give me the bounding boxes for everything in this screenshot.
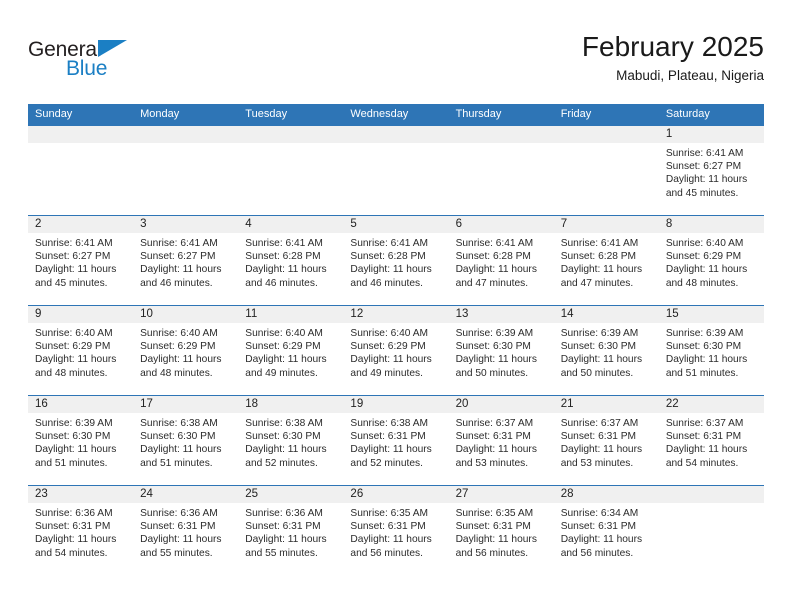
day-number: 20 <box>449 396 554 413</box>
day-number: 21 <box>554 396 659 413</box>
day-number: 12 <box>343 306 448 323</box>
weekday-header-monday: Monday <box>133 104 238 125</box>
daylight-text-line1: Daylight: 11 hours <box>456 533 548 546</box>
day-number: 25 <box>238 486 343 503</box>
day-number: 22 <box>659 396 764 413</box>
day-cell[interactable]: Sunrise: 6:40 AM Sunset: 6:29 PM Dayligh… <box>659 233 764 305</box>
day-number: 28 <box>554 486 659 503</box>
day-number: 7 <box>554 216 659 233</box>
sunset-text: Sunset: 6:27 PM <box>666 160 758 173</box>
daylight-text-line2: and 56 minutes. <box>456 547 548 560</box>
daylight-text-line2: and 51 minutes. <box>140 457 232 470</box>
sunset-text: Sunset: 6:28 PM <box>456 250 548 263</box>
day-cell[interactable]: Sunrise: 6:39 AM Sunset: 6:30 PM Dayligh… <box>659 323 764 395</box>
day-number <box>28 126 133 143</box>
daylight-text-line2: and 50 minutes. <box>561 367 653 380</box>
day-cell[interactable]: Sunrise: 6:36 AM Sunset: 6:31 PM Dayligh… <box>238 503 343 575</box>
day-number: 4 <box>238 216 343 233</box>
sunrise-text: Sunrise: 6:39 AM <box>666 327 758 340</box>
daylight-text-line2: and 51 minutes. <box>35 457 127 470</box>
calendar-grid: Sunday Monday Tuesday Wednesday Thursday… <box>28 104 764 575</box>
day-number: 2 <box>28 216 133 233</box>
day-number: 11 <box>238 306 343 323</box>
day-number <box>343 126 448 143</box>
sunset-text: Sunset: 6:30 PM <box>35 430 127 443</box>
sunrise-text: Sunrise: 6:38 AM <box>350 417 442 430</box>
daylight-text-line1: Daylight: 11 hours <box>140 533 232 546</box>
day-cell[interactable]: Sunrise: 6:36 AM Sunset: 6:31 PM Dayligh… <box>133 503 238 575</box>
daylight-text-line1: Daylight: 11 hours <box>140 353 232 366</box>
daylight-text-line1: Daylight: 11 hours <box>140 263 232 276</box>
day-cell[interactable] <box>659 503 764 575</box>
day-detail-row: Sunrise: 6:41 AM Sunset: 6:27 PM Dayligh… <box>28 233 764 305</box>
weekday-header-saturday: Saturday <box>659 104 764 125</box>
daylight-text-line1: Daylight: 11 hours <box>666 173 758 186</box>
day-detail-row: Sunrise: 6:41 AM Sunset: 6:27 PM Dayligh… <box>28 143 764 215</box>
sunrise-text: Sunrise: 6:36 AM <box>35 507 127 520</box>
day-number: 19 <box>343 396 448 413</box>
daylight-text-line2: and 45 minutes. <box>666 187 758 200</box>
day-cell[interactable] <box>554 143 659 215</box>
day-cell[interactable] <box>449 143 554 215</box>
day-number-band: 9 10 11 12 13 14 15 <box>28 306 764 323</box>
daylight-text-line2: and 49 minutes. <box>350 367 442 380</box>
sunset-text: Sunset: 6:27 PM <box>140 250 232 263</box>
daylight-text-line2: and 56 minutes. <box>350 547 442 560</box>
week-row: 9 10 11 12 13 14 15 Sunrise: 6:40 AM Sun… <box>28 305 764 395</box>
page-subtitle: Mabudi, Plateau, Nigeria <box>582 66 764 86</box>
daylight-text-line2: and 54 minutes. <box>666 457 758 470</box>
sunset-text: Sunset: 6:31 PM <box>350 520 442 533</box>
daylight-text-line2: and 51 minutes. <box>666 367 758 380</box>
day-cell[interactable]: Sunrise: 6:35 AM Sunset: 6:31 PM Dayligh… <box>449 503 554 575</box>
sunrise-text: Sunrise: 6:41 AM <box>456 237 548 250</box>
daylight-text-line1: Daylight: 11 hours <box>561 353 653 366</box>
sunrise-text: Sunrise: 6:36 AM <box>245 507 337 520</box>
sunset-text: Sunset: 6:30 PM <box>456 340 548 353</box>
weekday-header-wednesday: Wednesday <box>343 104 448 125</box>
day-number: 26 <box>343 486 448 503</box>
day-number <box>554 126 659 143</box>
sunrise-text: Sunrise: 6:38 AM <box>140 417 232 430</box>
daylight-text-line1: Daylight: 11 hours <box>456 263 548 276</box>
daylight-text-line1: Daylight: 11 hours <box>245 263 337 276</box>
daylight-text-line2: and 47 minutes. <box>561 277 653 290</box>
day-number: 10 <box>133 306 238 323</box>
day-cell[interactable]: Sunrise: 6:37 AM Sunset: 6:31 PM Dayligh… <box>659 413 764 485</box>
title-block: February 2025 Mabudi, Plateau, Nigeria <box>582 30 764 86</box>
sunset-text: Sunset: 6:28 PM <box>350 250 442 263</box>
daylight-text-line2: and 48 minutes. <box>666 277 758 290</box>
day-cell[interactable]: Sunrise: 6:41 AM Sunset: 6:27 PM Dayligh… <box>133 233 238 305</box>
daylight-text-line1: Daylight: 11 hours <box>245 533 337 546</box>
daylight-text-line1: Daylight: 11 hours <box>35 533 127 546</box>
sunrise-text: Sunrise: 6:40 AM <box>350 327 442 340</box>
daylight-text-line2: and 49 minutes. <box>245 367 337 380</box>
daylight-text-line1: Daylight: 11 hours <box>561 533 653 546</box>
daylight-text-line2: and 46 minutes. <box>140 277 232 290</box>
day-number <box>238 126 343 143</box>
weekday-header-friday: Friday <box>554 104 659 125</box>
day-cell[interactable]: Sunrise: 6:40 AM Sunset: 6:29 PM Dayligh… <box>238 323 343 395</box>
week-row: 1 <box>28 125 764 215</box>
daylight-text-line2: and 52 minutes. <box>245 457 337 470</box>
day-number: 5 <box>343 216 448 233</box>
daylight-text-line1: Daylight: 11 hours <box>245 353 337 366</box>
day-detail-row: Sunrise: 6:39 AM Sunset: 6:30 PM Dayligh… <box>28 413 764 485</box>
day-number <box>133 126 238 143</box>
day-cell[interactable]: Sunrise: 6:41 AM Sunset: 6:27 PM Dayligh… <box>659 143 764 215</box>
day-number: 17 <box>133 396 238 413</box>
day-number <box>659 486 764 503</box>
day-cell[interactable] <box>343 143 448 215</box>
daylight-text-line1: Daylight: 11 hours <box>350 353 442 366</box>
day-number: 15 <box>659 306 764 323</box>
sunset-text: Sunset: 6:29 PM <box>350 340 442 353</box>
day-cell[interactable]: Sunrise: 6:41 AM Sunset: 6:28 PM Dayligh… <box>449 233 554 305</box>
sunset-text: Sunset: 6:31 PM <box>456 430 548 443</box>
daylight-text-line1: Daylight: 11 hours <box>456 443 548 456</box>
sunset-text: Sunset: 6:30 PM <box>666 340 758 353</box>
sunset-text: Sunset: 6:29 PM <box>140 340 232 353</box>
daylight-text-line1: Daylight: 11 hours <box>245 443 337 456</box>
daylight-text-line2: and 47 minutes. <box>456 277 548 290</box>
sunset-text: Sunset: 6:27 PM <box>35 250 127 263</box>
weekday-header-sunday: Sunday <box>28 104 133 125</box>
sunset-text: Sunset: 6:29 PM <box>666 250 758 263</box>
day-cell[interactable]: Sunrise: 6:37 AM Sunset: 6:31 PM Dayligh… <box>554 413 659 485</box>
daylight-text-line1: Daylight: 11 hours <box>561 443 653 456</box>
day-number: 16 <box>28 396 133 413</box>
sunrise-text: Sunrise: 6:40 AM <box>666 237 758 250</box>
daylight-text-line1: Daylight: 11 hours <box>35 263 127 276</box>
day-number-band: 2 3 4 5 6 7 8 <box>28 216 764 233</box>
sunset-text: Sunset: 6:29 PM <box>35 340 127 353</box>
sunrise-text: Sunrise: 6:39 AM <box>561 327 653 340</box>
day-number: 27 <box>449 486 554 503</box>
daylight-text-line1: Daylight: 11 hours <box>350 263 442 276</box>
sunrise-text: Sunrise: 6:39 AM <box>456 327 548 340</box>
daylight-text-line2: and 55 minutes. <box>245 547 337 560</box>
sunset-text: Sunset: 6:30 PM <box>245 430 337 443</box>
daylight-text-line1: Daylight: 11 hours <box>561 263 653 276</box>
daylight-text-line2: and 53 minutes. <box>456 457 548 470</box>
day-number: 6 <box>449 216 554 233</box>
daylight-text-line2: and 48 minutes. <box>35 367 127 380</box>
daylight-text-line2: and 56 minutes. <box>561 547 653 560</box>
day-cell[interactable]: Sunrise: 6:38 AM Sunset: 6:31 PM Dayligh… <box>343 413 448 485</box>
sunset-text: Sunset: 6:31 PM <box>666 430 758 443</box>
day-number: 23 <box>28 486 133 503</box>
day-cell[interactable]: Sunrise: 6:38 AM Sunset: 6:30 PM Dayligh… <box>133 413 238 485</box>
sunrise-text: Sunrise: 6:38 AM <box>245 417 337 430</box>
calendar-page: General Blue February 2025 Mabudi, Plate… <box>0 0 792 612</box>
daylight-text-line1: Daylight: 11 hours <box>35 443 127 456</box>
sunrise-text: Sunrise: 6:41 AM <box>140 237 232 250</box>
daylight-text-line2: and 52 minutes. <box>350 457 442 470</box>
weekday-header-row: Sunday Monday Tuesday Wednesday Thursday… <box>28 104 764 125</box>
day-number: 3 <box>133 216 238 233</box>
sunrise-text: Sunrise: 6:35 AM <box>350 507 442 520</box>
day-number-band: 1 <box>28 126 764 143</box>
daylight-text-line1: Daylight: 11 hours <box>666 353 758 366</box>
daylight-text-line1: Daylight: 11 hours <box>666 443 758 456</box>
daylight-text-line1: Daylight: 11 hours <box>666 263 758 276</box>
day-number: 1 <box>659 126 764 143</box>
day-cell[interactable]: Sunrise: 6:41 AM Sunset: 6:28 PM Dayligh… <box>238 233 343 305</box>
page-title: February 2025 <box>582 30 764 64</box>
logo-word-blue: Blue <box>66 57 107 81</box>
day-cell[interactable]: Sunrise: 6:38 AM Sunset: 6:30 PM Dayligh… <box>238 413 343 485</box>
day-cell[interactable] <box>28 143 133 215</box>
daylight-text-line2: and 46 minutes. <box>245 277 337 290</box>
sunset-text: Sunset: 6:31 PM <box>350 430 442 443</box>
daylight-text-line2: and 48 minutes. <box>140 367 232 380</box>
sunrise-text: Sunrise: 6:41 AM <box>35 237 127 250</box>
sunrise-text: Sunrise: 6:40 AM <box>35 327 127 340</box>
daylight-text-line2: and 46 minutes. <box>350 277 442 290</box>
sunset-text: Sunset: 6:28 PM <box>245 250 337 263</box>
sunset-text: Sunset: 6:31 PM <box>561 520 653 533</box>
day-cell[interactable]: Sunrise: 6:40 AM Sunset: 6:29 PM Dayligh… <box>343 323 448 395</box>
general-blue-logo[interactable]: General Blue <box>28 30 148 86</box>
sunrise-text: Sunrise: 6:41 AM <box>350 237 442 250</box>
day-detail-row: Sunrise: 6:36 AM Sunset: 6:31 PM Dayligh… <box>28 503 764 575</box>
week-row: 16 17 18 19 20 21 22 Sunrise: 6:39 AM Su… <box>28 395 764 485</box>
weekday-header-tuesday: Tuesday <box>238 104 343 125</box>
week-row: 23 24 25 26 27 28 Sunrise: 6:36 AM Sunse… <box>28 485 764 575</box>
daylight-text-line2: and 54 minutes. <box>35 547 127 560</box>
day-cell[interactable]: Sunrise: 6:41 AM Sunset: 6:28 PM Dayligh… <box>554 233 659 305</box>
day-cell[interactable] <box>238 143 343 215</box>
day-cell[interactable]: Sunrise: 6:39 AM Sunset: 6:30 PM Dayligh… <box>449 323 554 395</box>
sunset-text: Sunset: 6:31 PM <box>245 520 337 533</box>
week-row: 2 3 4 5 6 7 8 Sunrise: 6:41 AM Sunset: 6… <box>28 215 764 305</box>
day-number: 24 <box>133 486 238 503</box>
sunrise-text: Sunrise: 6:41 AM <box>666 147 758 160</box>
sunset-text: Sunset: 6:28 PM <box>561 250 653 263</box>
page-header: General Blue February 2025 Mabudi, Plate… <box>28 30 764 92</box>
day-number: 9 <box>28 306 133 323</box>
sunrise-text: Sunrise: 6:35 AM <box>456 507 548 520</box>
daylight-text-line1: Daylight: 11 hours <box>350 443 442 456</box>
daylight-text-line2: and 50 minutes. <box>456 367 548 380</box>
day-number: 13 <box>449 306 554 323</box>
sunrise-text: Sunrise: 6:37 AM <box>561 417 653 430</box>
daylight-text-line1: Daylight: 11 hours <box>456 353 548 366</box>
daylight-text-line2: and 55 minutes. <box>140 547 232 560</box>
sunrise-text: Sunrise: 6:40 AM <box>140 327 232 340</box>
daylight-text-line1: Daylight: 11 hours <box>35 353 127 366</box>
day-number: 14 <box>554 306 659 323</box>
sunset-text: Sunset: 6:31 PM <box>35 520 127 533</box>
sunrise-text: Sunrise: 6:39 AM <box>35 417 127 430</box>
daylight-text-line1: Daylight: 11 hours <box>140 443 232 456</box>
day-cell[interactable]: Sunrise: 6:34 AM Sunset: 6:31 PM Dayligh… <box>554 503 659 575</box>
day-detail-row: Sunrise: 6:40 AM Sunset: 6:29 PM Dayligh… <box>28 323 764 395</box>
day-cell[interactable]: Sunrise: 6:41 AM Sunset: 6:27 PM Dayligh… <box>28 233 133 305</box>
sunrise-text: Sunrise: 6:41 AM <box>245 237 337 250</box>
sunset-text: Sunset: 6:30 PM <box>561 340 653 353</box>
day-cell[interactable]: Sunrise: 6:40 AM Sunset: 6:29 PM Dayligh… <box>133 323 238 395</box>
sunset-text: Sunset: 6:31 PM <box>140 520 232 533</box>
brand-triangle-icon <box>98 40 127 57</box>
day-number-band: 16 17 18 19 20 21 22 <box>28 396 764 413</box>
daylight-text-line1: Daylight: 11 hours <box>350 533 442 546</box>
sunset-text: Sunset: 6:31 PM <box>561 430 653 443</box>
day-cell[interactable]: Sunrise: 6:37 AM Sunset: 6:31 PM Dayligh… <box>449 413 554 485</box>
day-cell[interactable]: Sunrise: 6:35 AM Sunset: 6:31 PM Dayligh… <box>343 503 448 575</box>
day-cell[interactable]: Sunrise: 6:39 AM Sunset: 6:30 PM Dayligh… <box>28 413 133 485</box>
sunrise-text: Sunrise: 6:34 AM <box>561 507 653 520</box>
sunset-text: Sunset: 6:31 PM <box>456 520 548 533</box>
sunset-text: Sunset: 6:29 PM <box>245 340 337 353</box>
day-cell[interactable]: Sunrise: 6:36 AM Sunset: 6:31 PM Dayligh… <box>28 503 133 575</box>
day-cell[interactable] <box>133 143 238 215</box>
daylight-text-line2: and 45 minutes. <box>35 277 127 290</box>
sunrise-text: Sunrise: 6:41 AM <box>561 237 653 250</box>
sunrise-text: Sunrise: 6:37 AM <box>666 417 758 430</box>
day-cell[interactable]: Sunrise: 6:40 AM Sunset: 6:29 PM Dayligh… <box>28 323 133 395</box>
sunrise-text: Sunrise: 6:40 AM <box>245 327 337 340</box>
day-cell[interactable]: Sunrise: 6:41 AM Sunset: 6:28 PM Dayligh… <box>343 233 448 305</box>
daylight-text-line2: and 53 minutes. <box>561 457 653 470</box>
weekday-header-thursday: Thursday <box>449 104 554 125</box>
day-number-band: 23 24 25 26 27 28 <box>28 486 764 503</box>
sunset-text: Sunset: 6:30 PM <box>140 430 232 443</box>
sunrise-text: Sunrise: 6:36 AM <box>140 507 232 520</box>
day-number: 8 <box>659 216 764 233</box>
sunrise-text: Sunrise: 6:37 AM <box>456 417 548 430</box>
day-number <box>449 126 554 143</box>
day-cell[interactable]: Sunrise: 6:39 AM Sunset: 6:30 PM Dayligh… <box>554 323 659 395</box>
day-number: 18 <box>238 396 343 413</box>
